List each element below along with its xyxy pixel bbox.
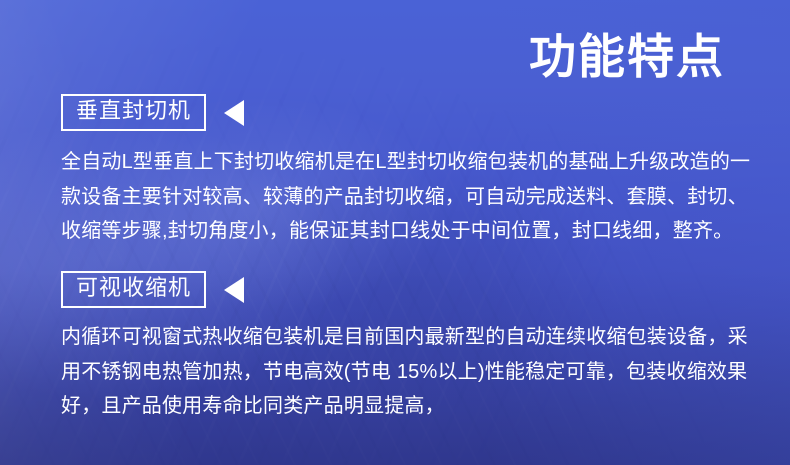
section-label-vertical-sealer: 垂直封切机: [61, 94, 206, 131]
triangle-left-icon: [224, 277, 244, 303]
page-title: 功能特点: [529, 33, 725, 80]
section-label-visual-shrink: 可视收缩机: [61, 271, 206, 308]
section-label-row: 可视收缩机: [61, 271, 244, 308]
section-body-visual-shrink: 内循环可视窗式热收缩包装机是目前国内最新型的自动连续收缩包装设备，采用不锈钢电热…: [61, 320, 761, 424]
section-body-vertical-sealer: 全自动L型垂直上下封切收缩机是在L型封切收缩包装机的基础上升级改造的一款设备主要…: [61, 145, 761, 249]
banner-content: 功能特点 垂直封切机 全自动L型垂直上下封切收缩机是在L型封切收缩包装机的基础上…: [0, 0, 790, 465]
triangle-left-icon: [224, 100, 244, 126]
section-label-row: 垂直封切机: [61, 94, 244, 131]
feature-banner: 功能特点 垂直封切机 全自动L型垂直上下封切收缩机是在L型封切收缩包装机的基础上…: [0, 0, 790, 465]
